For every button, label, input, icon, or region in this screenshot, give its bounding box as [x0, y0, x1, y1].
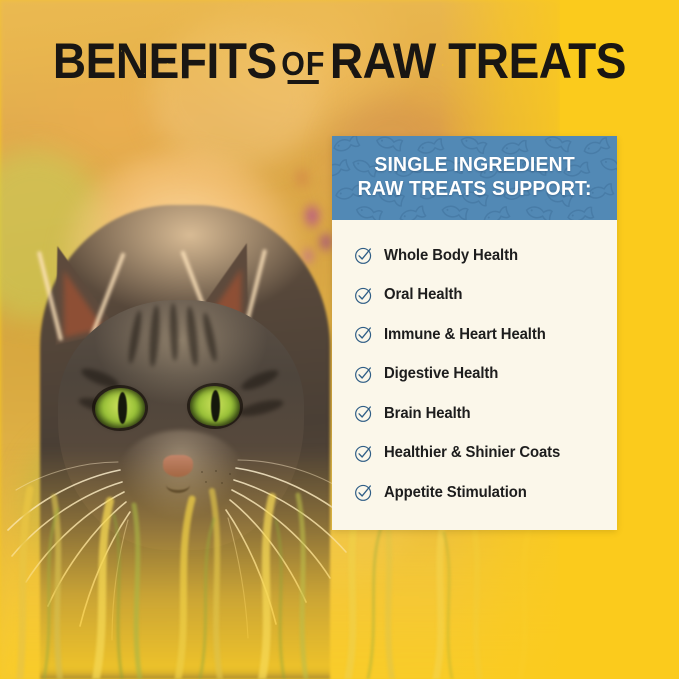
headline-part-raw-treats: RAW TREATS [330, 33, 626, 89]
check-circle-icon [354, 325, 373, 344]
list-item: Healthier & Shinier Coats [354, 434, 617, 474]
list-item: Whole Body Health [354, 236, 617, 276]
whisker-pad-dots [196, 468, 244, 494]
card-header-text: SINGLE INGREDIENT RAW TREATS SUPPORT: [358, 154, 592, 201]
check-circle-icon [354, 246, 373, 265]
cat-nose [163, 455, 193, 477]
benefit-label: Appetite Stimulation [384, 484, 527, 502]
benefits-list: Whole Body Health Oral Health Immune & H… [332, 220, 617, 523]
headline-of-underline [288, 80, 319, 84]
headline-part-of: OF [277, 45, 330, 82]
headline-part-benefits: BENEFITS [53, 33, 277, 89]
check-circle-icon [354, 404, 373, 423]
check-circle-icon [354, 286, 373, 305]
benefit-label: Healthier & Shinier Coats [384, 444, 560, 462]
check-circle-icon [354, 444, 373, 463]
list-item: Digestive Health [354, 355, 617, 395]
benefit-label: Oral Health [384, 286, 462, 304]
card-header: SINGLE INGREDIENT RAW TREATS SUPPORT: [332, 136, 617, 220]
benefit-label: Immune & Heart Health [384, 326, 546, 344]
benefit-label: Digestive Health [384, 365, 498, 383]
list-item: Oral Health [354, 276, 617, 316]
benefits-card: SINGLE INGREDIENT RAW TREATS SUPPORT: Wh… [332, 136, 617, 530]
cat-eye-rim-right [187, 383, 243, 429]
list-item: Brain Health [354, 394, 617, 434]
infographic-canvas: BENEFITSOFRAW TREATS [0, 0, 679, 679]
cat-mouth [166, 477, 190, 493]
cat-eye-rim-left [92, 385, 148, 431]
page-title: BENEFITSOFRAW TREATS [0, 36, 679, 86]
check-circle-icon [354, 483, 373, 502]
list-item: Appetite Stimulation [354, 473, 617, 513]
benefit-label: Whole Body Health [384, 247, 518, 265]
card-header-line1: SINGLE INGREDIENT [358, 154, 592, 178]
benefit-label: Brain Health [384, 405, 471, 423]
card-header-line2: RAW TREATS SUPPORT: [358, 178, 592, 202]
list-item: Immune & Heart Health [354, 315, 617, 355]
headline-text: BENEFITSOFRAW TREATS [53, 36, 626, 86]
check-circle-icon [354, 365, 373, 384]
